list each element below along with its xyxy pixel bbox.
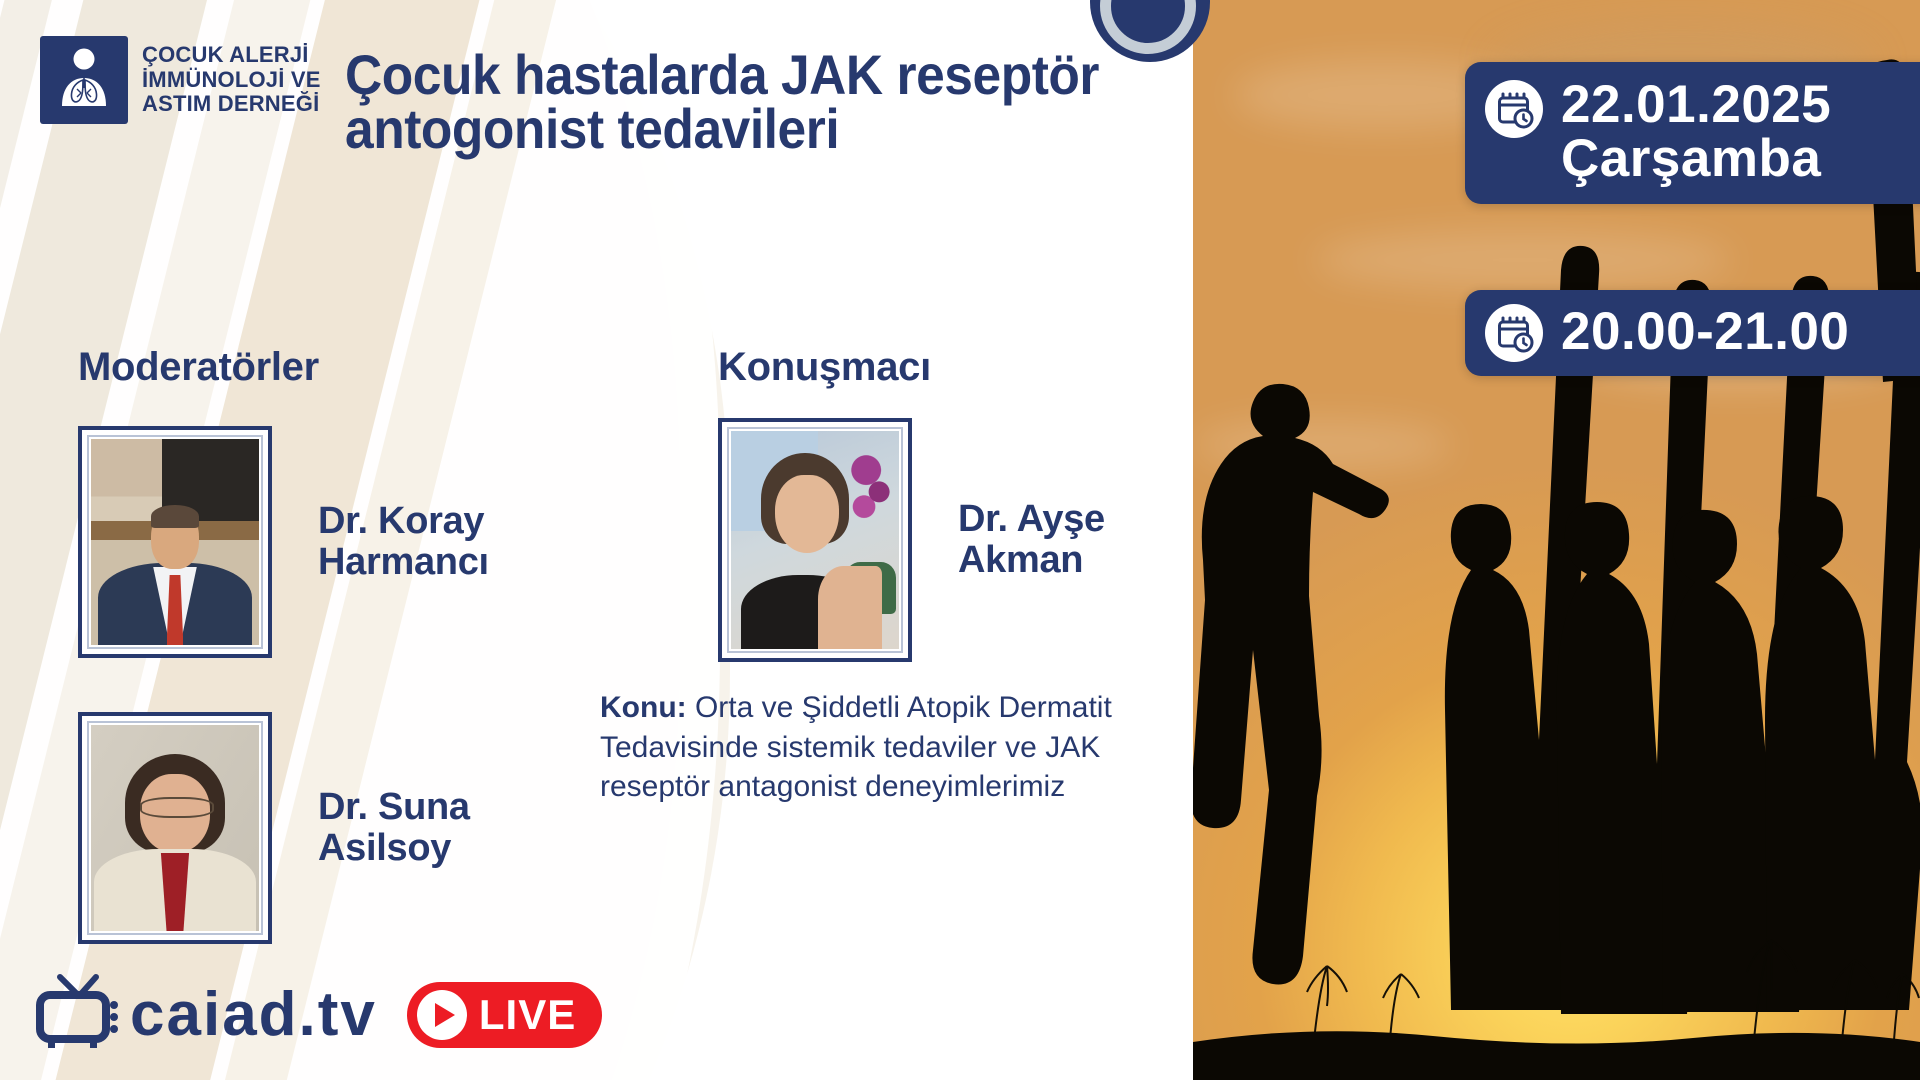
- association-name-line-2: İMMÜNOLOJİ VE: [142, 68, 321, 93]
- moderator-1-photo-frame: [78, 426, 272, 658]
- portrait-suna-asilsoy: [91, 725, 259, 931]
- topic-label: Konu:: [600, 691, 687, 724]
- date-value: 22.01.2025 Çarşamba: [1561, 78, 1831, 186]
- footer-bar: caiad.tv LIVE: [34, 973, 602, 1056]
- lungs-person-icon: [40, 36, 128, 124]
- moderator-1-name: Dr. Koray Harmancı: [318, 501, 489, 583]
- calendar-clock-icon: [1485, 80, 1543, 138]
- brand-label: caiad.tv: [130, 984, 377, 1046]
- speaker-heading: Konuşmacı: [718, 345, 931, 390]
- background-stripe: [0, 0, 17, 1080]
- association-name: ÇOCUK ALERJİ İMMÜNOLOJİ VE ASTIM DERNEĞİ: [142, 43, 321, 117]
- time-value: 20.00-21.00: [1561, 305, 1849, 359]
- association-logo: ÇOCUK ALERJİ İMMÜNOLOJİ VE ASTIM DERNEĞİ: [40, 36, 321, 124]
- time-badge: 20.00-21.00: [1465, 290, 1920, 376]
- moderator-2: Dr. Suna Asilsoy: [78, 712, 470, 944]
- moderator-2-name: Dr. Suna Asilsoy: [318, 787, 470, 869]
- portrait-ayse-akman: [731, 431, 899, 649]
- caiad-brand[interactable]: caiad.tv: [34, 973, 377, 1056]
- moderator-2-photo-frame: [78, 712, 272, 944]
- background-stripe: [0, 0, 49, 1080]
- event-title-line-1: Çocuk hastalarda JAK reseptör: [345, 48, 1109, 102]
- moderators-heading: Moderatörler: [78, 345, 319, 390]
- speaker-name: Dr. Ayşe Akman: [958, 499, 1105, 581]
- speaker-block: Dr. Ayşe Akman: [718, 418, 1105, 662]
- play-icon: [417, 990, 467, 1040]
- event-title: Çocuk hastalarda JAK reseptör antogonist…: [345, 48, 1109, 156]
- association-name-line-1: ÇOCUK ALERJİ: [142, 43, 321, 68]
- date-badge: 22.01.2025 Çarşamba: [1465, 62, 1920, 204]
- webinar-poster: ÇOCUK ALERJİ İMMÜNOLOJİ VE ASTIM DERNEĞİ…: [0, 0, 1920, 1080]
- association-name-line-3: ASTIM DERNEĞİ: [142, 92, 321, 117]
- left-content-panel: ÇOCUK ALERJİ İMMÜNOLOJİ VE ASTIM DERNEĞİ…: [0, 0, 1193, 1080]
- topic-text: Konu: Orta ve Şiddetli Atopik Dermatit T…: [600, 688, 1193, 807]
- moderator-1: Dr. Koray Harmancı: [78, 426, 489, 658]
- television-icon: [34, 973, 126, 1056]
- portrait-koray-harmanci: [91, 439, 259, 645]
- live-label: LIVE: [479, 994, 576, 1036]
- event-title-line-2: antogonist tedavileri: [345, 102, 1109, 156]
- speaker-photo-frame: [718, 418, 912, 662]
- calendar-clock-icon: [1485, 304, 1543, 362]
- live-badge[interactable]: LIVE: [407, 982, 602, 1048]
